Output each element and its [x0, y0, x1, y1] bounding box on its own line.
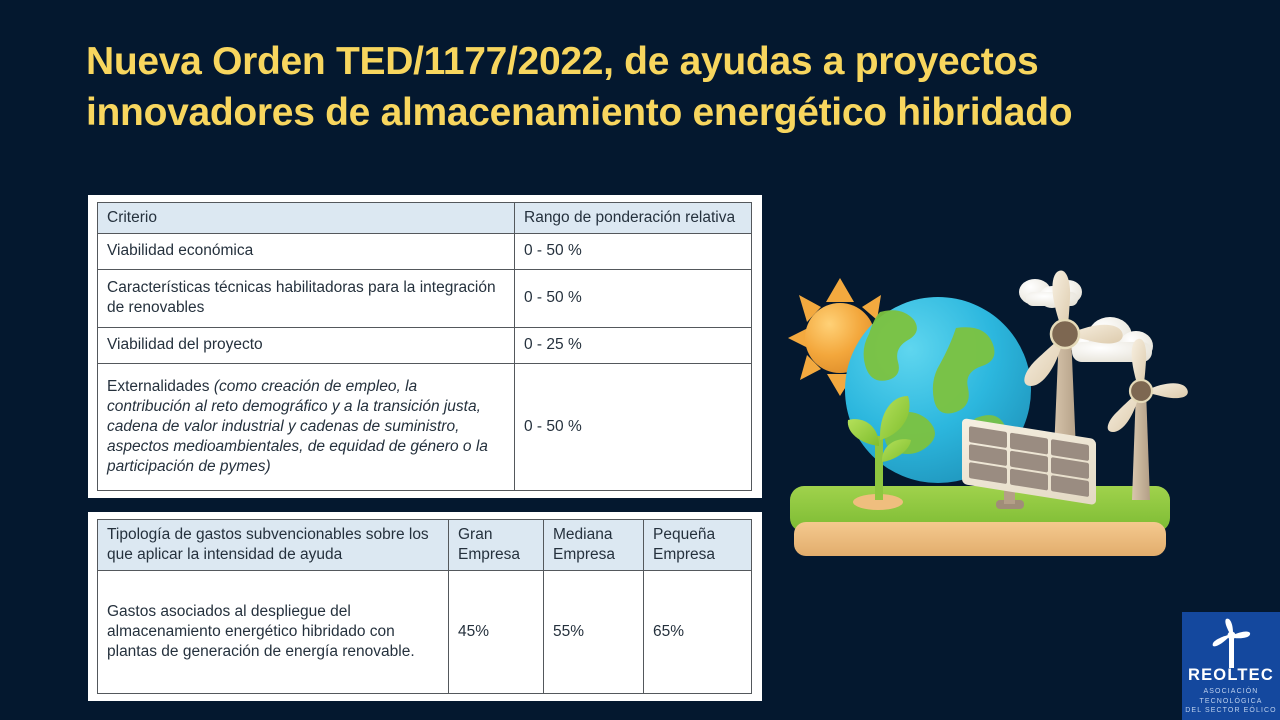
cloud-small-icon: [1019, 279, 1082, 308]
column-header-pequena-empresa: Pequeña Empresa: [644, 520, 752, 571]
wind-turbine-icon: [1210, 618, 1252, 668]
logo-tagline-line-3: DEL SECTOR EÓLICO: [1182, 706, 1280, 716]
criterios-table-frame: Criterio Rango de ponderación relativa V…: [88, 195, 762, 498]
cell-rango: 0 - 50 %: [515, 363, 752, 490]
column-header-mediana-empresa: Mediana Empresa: [544, 520, 644, 571]
intensidad-table-frame: Tipología de gastos subvencionables sobr…: [88, 512, 762, 701]
cell-mediana-empresa: 55%: [544, 571, 644, 694]
criterios-table: Criterio Rango de ponderación relativa V…: [97, 202, 752, 491]
logo-tagline-line-2: TECNOLÓGICA: [1182, 697, 1280, 707]
table-row: Externalidades (como creación de empleo,…: [98, 363, 752, 490]
table-header-row: Criterio Rango de ponderación relativa: [98, 203, 752, 234]
cell-pequena-empresa: 65%: [644, 571, 752, 694]
cell-gran-empresa: 45%: [449, 571, 544, 694]
column-header-rango: Rango de ponderación relativa: [515, 203, 752, 234]
logo-tagline: ASOCIACIÓN TECNOLÓGICA DEL SECTOR EÓLICO: [1182, 687, 1280, 716]
slide-canvas: Nueva Orden TED/1177/2022, de ayudas a p…: [0, 0, 1280, 720]
logo-brand-name: REOLTEC: [1182, 666, 1280, 685]
table-row: Características técnicas habilitadoras p…: [98, 269, 752, 328]
page-title-line-2: innovadores de almacenamiento energético…: [86, 87, 1216, 138]
cell-criterio-label: Externalidades: [107, 378, 214, 395]
cell-concepto: Gastos asociados al despliegue del almac…: [98, 571, 449, 694]
table-header-row: Tipología de gastos subvencionables sobr…: [98, 520, 752, 571]
cell-criterio: Viabilidad económica: [98, 234, 515, 270]
column-header-criterio: Criterio: [98, 203, 515, 234]
cell-criterio: Viabilidad del proyecto: [98, 328, 515, 364]
cell-rango: 0 - 50 %: [515, 269, 752, 328]
grass-platform: [790, 486, 1170, 556]
cell-rango: 0 - 25 %: [515, 328, 752, 364]
intensidad-table: Tipología de gastos subvencionables sobr…: [97, 519, 752, 694]
page-title: Nueva Orden TED/1177/2022, de ayudas a p…: [86, 36, 1216, 138]
page-title-line-1: Nueva Orden TED/1177/2022, de ayudas a p…: [86, 36, 1216, 87]
renewable-energy-illustration: [780, 250, 1210, 580]
cell-rango: 0 - 50 %: [515, 234, 752, 270]
column-header-gran-empresa: Gran Empresa: [449, 520, 544, 571]
table-row: Viabilidad del proyecto 0 - 25 %: [98, 328, 752, 364]
table-row: Viabilidad económica 0 - 50 %: [98, 234, 752, 270]
column-header-tipologia: Tipología de gastos subvencionables sobr…: [98, 520, 449, 571]
table-row: Gastos asociados al despliegue del almac…: [98, 571, 752, 694]
cell-criterio: Externalidades (como creación de empleo,…: [98, 363, 515, 490]
reoltec-logo: REOLTEC ASOCIACIÓN TECNOLÓGICA DEL SECTO…: [1182, 612, 1280, 720]
cell-criterio: Características técnicas habilitadoras p…: [98, 269, 515, 328]
logo-tagline-line-1: ASOCIACIÓN: [1182, 687, 1280, 697]
wind-turbine-small-icon: [1108, 339, 1188, 500]
